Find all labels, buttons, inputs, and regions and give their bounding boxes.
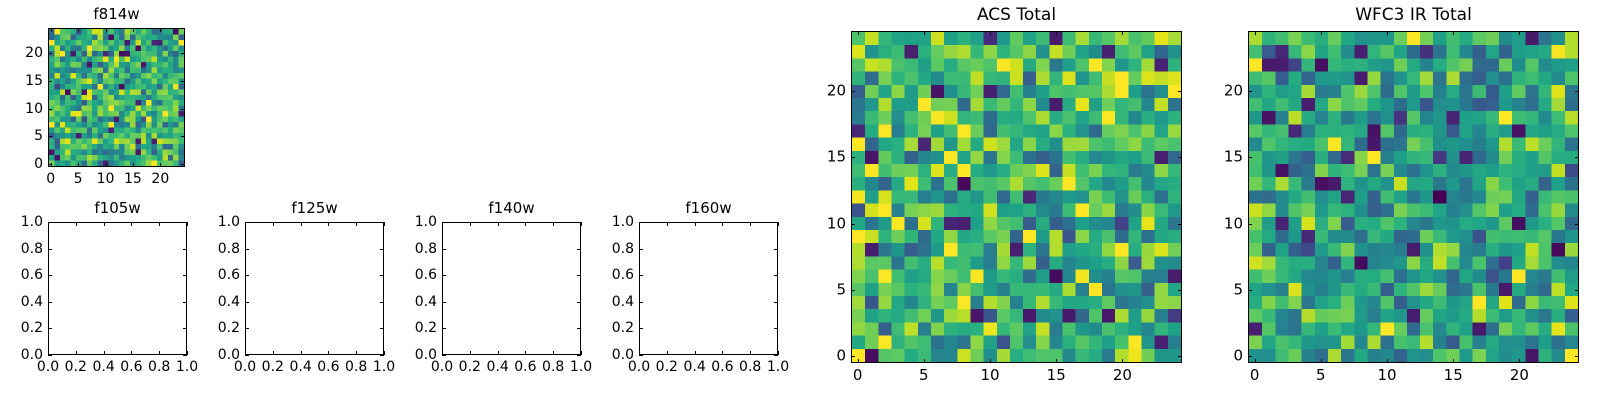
xtick-mark-top-f160w-2 <box>695 222 696 226</box>
ytick-label-acs-total-0: 0 <box>791 349 846 364</box>
xtick-mark-f160w-4 <box>750 351 751 355</box>
xtick-mark-f160w-3 <box>722 351 723 355</box>
xtick-mark-top-wfc3-ir-total-2 <box>1387 31 1388 35</box>
panel-title-f140w: f140w <box>442 201 581 216</box>
heatmap-image-acs-total <box>852 32 1181 362</box>
ytick-mark-right-wfc3-ir-total-2 <box>1575 224 1579 225</box>
ytick-label-wfc3-ir-total-1: 5 <box>1188 282 1243 297</box>
xtick-mark-wfc3-ir-total-0 <box>1255 359 1256 363</box>
ytick-label-f105w-5: 1.0 <box>0 215 43 229</box>
ytick-label-f140w-1: 0.2 <box>382 321 437 335</box>
ytick-mark-right-f160w-2 <box>774 302 778 303</box>
ytick-mark-f140w-2 <box>442 302 446 303</box>
xtick-mark-top-f160w-1 <box>667 222 668 226</box>
ytick-mark-f140w-5 <box>442 222 446 223</box>
ytick-mark-f140w-4 <box>442 249 446 250</box>
xtick-mark-top-f125w-1 <box>273 222 274 226</box>
ytick-label-acs-total-4: 20 <box>791 83 846 98</box>
xtick-mark-f140w-3 <box>525 351 526 355</box>
ytick-label-f140w-5: 1.0 <box>382 215 437 229</box>
ytick-label-f105w-0: 0.0 <box>0 348 43 362</box>
xtick-label-f140w-3: 0.6 <box>514 360 536 374</box>
xtick-label-wfc3-ir-total-0: 0 <box>1250 368 1260 383</box>
xtick-label-acs-total-1: 5 <box>919 368 929 383</box>
ytick-mark-f160w-5 <box>639 222 643 223</box>
axes-f125w <box>245 222 384 355</box>
ytick-mark-acs-total-0 <box>851 356 855 357</box>
ytick-mark-f160w-4 <box>639 249 643 250</box>
panel-wfc3-ir-total: WFC3 IR Total0510152005101520 <box>1188 0 1600 400</box>
ytick-mark-right-wfc3-ir-total-1 <box>1575 290 1579 291</box>
xtick-label-f140w-2: 0.4 <box>486 360 508 374</box>
panel-title-acs-total: ACS Total <box>851 7 1182 24</box>
ytick-label-acs-total-2: 10 <box>791 216 846 231</box>
ytick-mark-acs-total-4 <box>851 91 855 92</box>
ytick-mark-right-f160w-3 <box>774 275 778 276</box>
ytick-label-f125w-4: 0.8 <box>185 242 240 256</box>
ytick-mark-f140w-0 <box>442 355 446 356</box>
xtick-mark-f125w-2 <box>301 351 302 355</box>
ytick-label-f105w-3: 0.6 <box>0 268 43 282</box>
xtick-label-f160w-2: 0.4 <box>683 360 705 374</box>
xtick-mark-f160w-1 <box>667 351 668 355</box>
xtick-mark-top-wfc3-ir-total-3 <box>1453 31 1454 35</box>
ytick-mark-right-f160w-4 <box>774 249 778 250</box>
xtick-mark-top-f105w-4 <box>159 222 160 226</box>
ytick-mark-f160w-1 <box>639 328 643 329</box>
ytick-mark-wfc3-ir-total-2 <box>1248 224 1252 225</box>
ytick-label-f160w-3: 0.6 <box>579 268 634 282</box>
xtick-mark-f105w-2 <box>104 351 105 355</box>
ytick-mark-right-f160w-5 <box>774 222 778 223</box>
ytick-mark-f160w-0 <box>639 355 643 356</box>
ytick-mark-f105w-5 <box>48 222 52 223</box>
xtick-mark-f160w-5 <box>778 351 779 355</box>
xtick-mark-f160w-2 <box>695 351 696 355</box>
axes-f160w <box>639 222 778 355</box>
xtick-label-f160w-3: 0.6 <box>711 360 733 374</box>
xtick-mark-top-acs-total-1 <box>924 31 925 35</box>
xtick-label-wfc3-ir-total-1: 5 <box>1316 368 1326 383</box>
ytick-mark-f125w-4 <box>245 249 249 250</box>
xtick-mark-wfc3-ir-total-3 <box>1453 359 1454 363</box>
xtick-mark-top-acs-total-2 <box>990 31 991 35</box>
xtick-label-f105w-2: 0.4 <box>92 360 114 374</box>
xtick-label-f160w-1: 0.2 <box>656 360 678 374</box>
xtick-mark-top-f125w-2 <box>301 222 302 226</box>
xtick-mark-acs-total-1 <box>924 359 925 363</box>
xtick-label-f105w-1: 0.2 <box>65 360 87 374</box>
xtick-mark-f105w-1 <box>76 351 77 355</box>
ytick-mark-wfc3-ir-total-4 <box>1248 91 1252 92</box>
ytick-mark-f140w-3 <box>442 275 446 276</box>
xtick-label-acs-total-4: 20 <box>1113 368 1132 383</box>
xtick-label-f105w-4: 0.8 <box>148 360 170 374</box>
ytick-mark-f160w-3 <box>639 275 643 276</box>
ytick-mark-f125w-5 <box>245 222 249 223</box>
ytick-mark-right-f160w-1 <box>774 328 778 329</box>
ytick-label-f125w-0: 0.0 <box>185 348 240 362</box>
ytick-mark-right-f160w-0 <box>774 355 778 356</box>
ytick-mark-f105w-4 <box>48 249 52 250</box>
ytick-label-f105w-1: 0.2 <box>0 321 43 335</box>
xtick-mark-top-wfc3-ir-total-0 <box>1255 31 1256 35</box>
matplotlib-figure: f814w0510152005101520f105w0.00.20.40.60.… <box>0 0 1600 400</box>
ytick-mark-f125w-0 <box>245 355 249 356</box>
ytick-mark-right-wfc3-ir-total-3 <box>1575 157 1579 158</box>
xtick-mark-f140w-2 <box>498 351 499 355</box>
xtick-label-f125w-1: 0.2 <box>262 360 284 374</box>
ytick-mark-right-acs-total-4 <box>1178 91 1182 92</box>
xtick-mark-top-f160w-3 <box>722 222 723 226</box>
ytick-mark-f160w-2 <box>639 302 643 303</box>
ytick-mark-right-acs-total-3 <box>1178 157 1182 158</box>
xtick-mark-top-f160w-5 <box>778 222 779 226</box>
xtick-label-f160w-5: 1.0 <box>767 360 789 374</box>
xtick-mark-top-acs-total-3 <box>1056 31 1057 35</box>
xtick-mark-top-f140w-1 <box>470 222 471 226</box>
axes-f105w <box>48 222 187 355</box>
ytick-label-f125w-3: 0.6 <box>185 268 240 282</box>
ytick-label-wfc3-ir-total-0: 0 <box>1188 349 1243 364</box>
ytick-label-wfc3-ir-total-3: 15 <box>1188 150 1243 165</box>
ytick-mark-right-wfc3-ir-total-4 <box>1575 91 1579 92</box>
panel-title-wfc3-ir-total: WFC3 IR Total <box>1248 7 1579 24</box>
ytick-mark-f105w-1 <box>48 328 52 329</box>
axes-f140w <box>442 222 581 355</box>
panel-title-f125w: f125w <box>245 201 384 216</box>
xtick-label-wfc3-ir-total-4: 20 <box>1510 368 1529 383</box>
heatmap-image-wfc3-ir-total <box>1249 32 1578 362</box>
ytick-label-wfc3-ir-total-4: 20 <box>1188 83 1243 98</box>
ytick-mark-f140w-1 <box>442 328 446 329</box>
ytick-mark-acs-total-1 <box>851 290 855 291</box>
ytick-mark-right-acs-total-1 <box>1178 290 1182 291</box>
xtick-mark-top-f125w-4 <box>356 222 357 226</box>
xtick-mark-acs-total-0 <box>858 359 859 363</box>
xtick-label-wfc3-ir-total-2: 10 <box>1377 368 1396 383</box>
ytick-mark-acs-total-3 <box>851 157 855 158</box>
xtick-mark-f140w-1 <box>470 351 471 355</box>
ytick-label-f160w-4: 0.8 <box>579 242 634 256</box>
xtick-label-f125w-4: 0.8 <box>345 360 367 374</box>
ytick-label-f125w-1: 0.2 <box>185 321 240 335</box>
ytick-label-f140w-0: 0.0 <box>382 348 437 362</box>
ytick-label-f160w-0: 0.0 <box>579 348 634 362</box>
xtick-mark-f140w-4 <box>553 351 554 355</box>
ytick-label-wfc3-ir-total-2: 10 <box>1188 216 1243 231</box>
xtick-label-f105w-3: 0.6 <box>120 360 142 374</box>
xtick-label-wfc3-ir-total-3: 15 <box>1444 368 1463 383</box>
panel-title-f160w: f160w <box>639 201 778 216</box>
ytick-label-f140w-4: 0.8 <box>382 242 437 256</box>
xtick-label-f125w-3: 0.6 <box>317 360 339 374</box>
xtick-mark-top-f105w-3 <box>131 222 132 226</box>
ytick-label-f105w-2: 0.4 <box>0 295 43 309</box>
ytick-mark-f125w-2 <box>245 302 249 303</box>
xtick-label-acs-total-2: 10 <box>980 368 999 383</box>
xtick-mark-f125w-4 <box>356 351 357 355</box>
panel-acs-total: ACS Total0510152005101520 <box>791 0 1242 400</box>
xtick-mark-acs-total-2 <box>990 359 991 363</box>
xtick-mark-top-f140w-4 <box>553 222 554 226</box>
ytick-label-f125w-2: 0.4 <box>185 295 240 309</box>
xtick-mark-f125w-1 <box>273 351 274 355</box>
ytick-mark-right-acs-total-0 <box>1178 356 1182 357</box>
xtick-mark-f105w-3 <box>131 351 132 355</box>
ytick-mark-f105w-0 <box>48 355 52 356</box>
xtick-label-f140w-4: 0.8 <box>542 360 564 374</box>
xtick-mark-top-f105w-1 <box>76 222 77 226</box>
ytick-label-acs-total-3: 15 <box>791 150 846 165</box>
xtick-mark-top-acs-total-4 <box>1122 31 1123 35</box>
ytick-label-f160w-5: 1.0 <box>579 215 634 229</box>
axes-wfc3-ir-total <box>1248 31 1579 363</box>
xtick-mark-top-f105w-2 <box>104 222 105 226</box>
ytick-label-f160w-1: 0.2 <box>579 321 634 335</box>
ytick-mark-wfc3-ir-total-3 <box>1248 157 1252 158</box>
xtick-mark-wfc3-ir-total-2 <box>1387 359 1388 363</box>
xtick-label-f125w-2: 0.4 <box>289 360 311 374</box>
xtick-mark-top-wfc3-ir-total-4 <box>1519 31 1520 35</box>
xtick-mark-top-acs-total-0 <box>858 31 859 35</box>
xtick-label-acs-total-0: 0 <box>853 368 863 383</box>
ytick-mark-wfc3-ir-total-0 <box>1248 356 1252 357</box>
ytick-label-f140w-2: 0.4 <box>382 295 437 309</box>
xtick-label-f160w-4: 0.8 <box>739 360 761 374</box>
ytick-mark-f105w-2 <box>48 302 52 303</box>
xtick-label-acs-total-3: 15 <box>1047 368 1066 383</box>
xtick-mark-acs-total-4 <box>1122 359 1123 363</box>
xtick-mark-f125w-3 <box>328 351 329 355</box>
ytick-mark-right-wfc3-ir-total-0 <box>1575 356 1579 357</box>
ytick-label-acs-total-1: 5 <box>791 282 846 297</box>
xtick-mark-top-f140w-3 <box>525 222 526 226</box>
ytick-label-f160w-2: 0.4 <box>579 295 634 309</box>
ytick-label-f125w-5: 1.0 <box>185 215 240 229</box>
xtick-mark-top-f125w-3 <box>328 222 329 226</box>
ytick-mark-acs-total-2 <box>851 224 855 225</box>
xtick-mark-acs-total-3 <box>1056 359 1057 363</box>
xtick-mark-top-f160w-4 <box>750 222 751 226</box>
ytick-label-f105w-4: 0.8 <box>0 242 43 256</box>
ytick-mark-f105w-3 <box>48 275 52 276</box>
xtick-mark-wfc3-ir-total-4 <box>1519 359 1520 363</box>
xtick-mark-f105w-4 <box>159 351 160 355</box>
xtick-mark-wfc3-ir-total-1 <box>1321 359 1322 363</box>
ytick-mark-f125w-3 <box>245 275 249 276</box>
panel-title-f105w: f105w <box>48 201 187 216</box>
xtick-mark-top-wfc3-ir-total-1 <box>1321 31 1322 35</box>
xtick-mark-top-f140w-2 <box>498 222 499 226</box>
xtick-label-f140w-1: 0.2 <box>459 360 481 374</box>
axes-acs-total <box>851 31 1182 363</box>
ytick-label-f140w-3: 0.6 <box>382 268 437 282</box>
ytick-mark-wfc3-ir-total-1 <box>1248 290 1252 291</box>
ytick-mark-right-acs-total-2 <box>1178 224 1182 225</box>
ytick-mark-f125w-1 <box>245 328 249 329</box>
